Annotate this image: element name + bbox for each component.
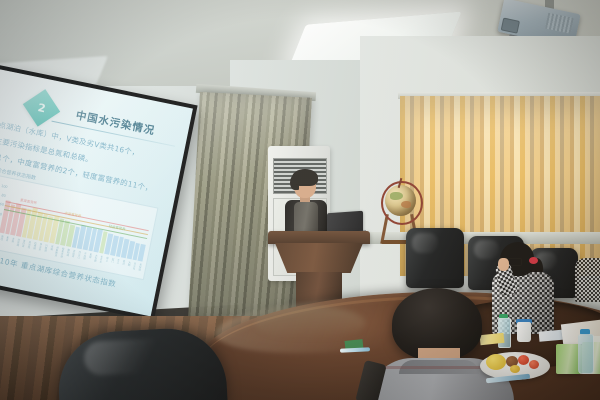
fruit-item	[486, 354, 506, 370]
chair-highlight	[412, 233, 439, 253]
fruit-item	[518, 355, 529, 365]
paper-cup	[517, 322, 531, 342]
chart-x-tick-label: 色林错	[135, 263, 142, 276]
projector-lens-icon	[501, 17, 520, 33]
fruit-item	[529, 360, 539, 369]
wooden-lectern	[275, 243, 363, 273]
presenter-vest	[294, 202, 318, 232]
chart-y-tick-label: 80	[0, 192, 6, 198]
chart-y-tick-label: 100	[0, 183, 8, 189]
table-reflection	[255, 306, 365, 340]
attendee-hand	[498, 258, 509, 271]
seated-attendee-partial	[575, 258, 600, 302]
slide-number-text: 2	[36, 101, 46, 115]
chair-highlight	[474, 240, 500, 258]
globe-meridian-ring	[381, 181, 423, 225]
black-leather-office-chair	[406, 228, 464, 288]
conference-room-photo: 2 中国水污染情况 26个国控重点湖泊（水库）中，Ⅴ类及劣Ⅴ类共16个， 占61…	[0, 0, 600, 400]
projector-vent	[545, 13, 574, 34]
presenter-at-podium	[283, 172, 329, 234]
lectern-top	[268, 231, 370, 244]
presenter-glasses-icon	[296, 184, 312, 189]
fruit-item	[510, 365, 520, 373]
water-bottle	[578, 334, 594, 374]
attendee-hair-tie	[529, 257, 538, 264]
chair-highlight	[83, 337, 172, 376]
